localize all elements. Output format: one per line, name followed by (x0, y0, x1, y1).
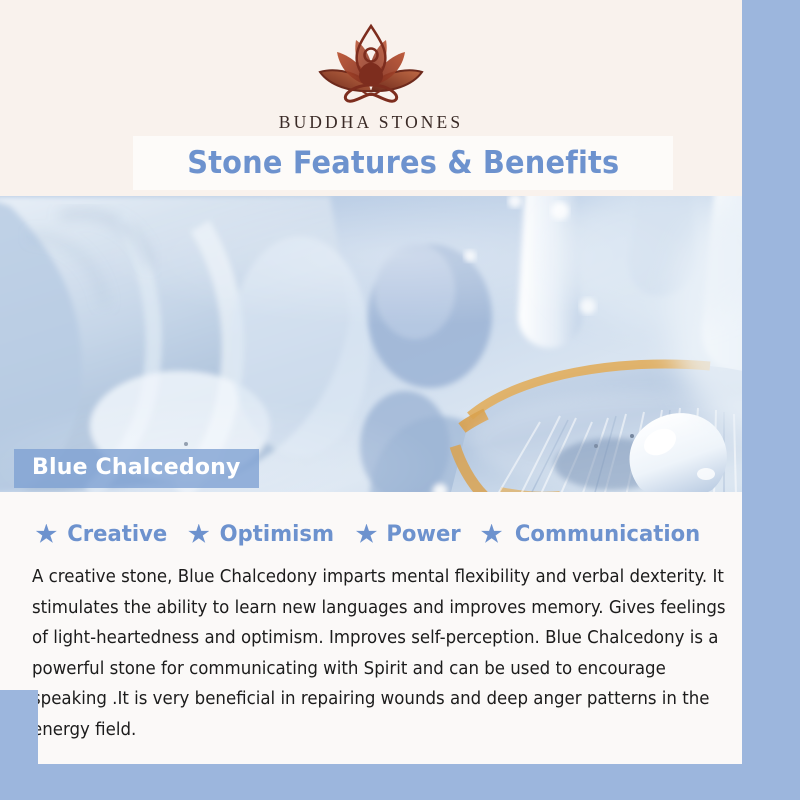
frame-right-band (742, 0, 800, 800)
stone-photo (0, 196, 800, 492)
keyword-item-optimism: Optimism (188, 521, 338, 547)
star-icon (356, 524, 377, 545)
keyword-item-creative: Creative (36, 521, 170, 547)
keyword-list: Creative Optimism Power Communication (0, 521, 742, 547)
keyword-label: Communication (515, 521, 700, 547)
page-title: Stone Features & Benefits (187, 145, 619, 181)
keyword-item-communication: Communication (481, 521, 706, 547)
description-text: A creative stone, Blue Chalcedony impart… (32, 562, 741, 745)
keyword-label: Power (386, 521, 460, 547)
keyword-item-power: Power (356, 521, 463, 547)
frame-bottom-band (0, 764, 800, 800)
lotus-meditation-figure-icon (296, 16, 446, 108)
star-icon (481, 524, 502, 545)
title-banner: Stone Features & Benefits (133, 136, 673, 190)
keyword-label: Creative (67, 521, 167, 547)
infographic-page: BUDDHA STONES Stone Features & Benefits (0, 0, 800, 800)
stone-name-label: Blue Chalcedony (14, 449, 259, 488)
brand-name: BUDDHA STONES (279, 112, 463, 133)
brand-logo: BUDDHA STONES (0, 16, 742, 133)
star-icon (188, 524, 209, 545)
star-icon (36, 524, 57, 545)
keyword-label: Optimism (220, 521, 334, 547)
